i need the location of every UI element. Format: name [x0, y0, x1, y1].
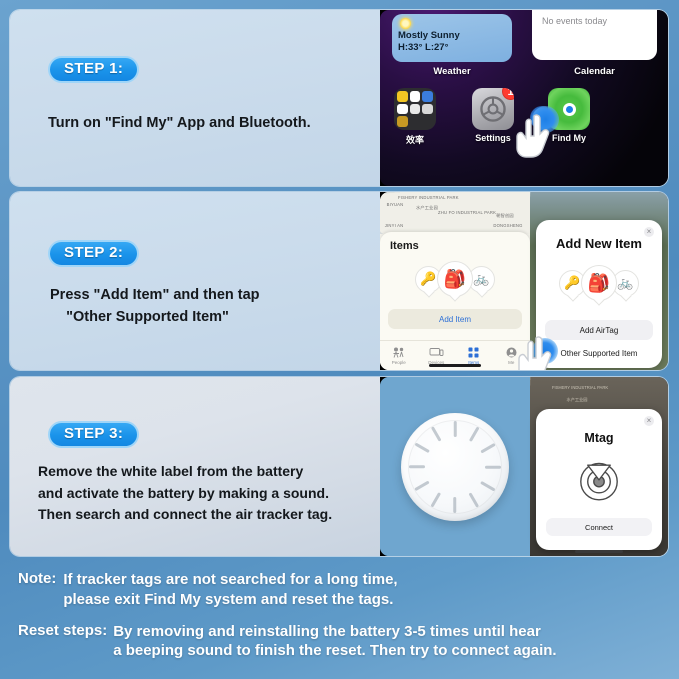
note-text: If tracker tags are not searched for a l… — [63, 570, 397, 610]
other-supported-item-button[interactable]: Other Supported Item — [545, 343, 653, 363]
add-airtag-button[interactable]: Add AirTag — [545, 320, 653, 340]
devices-icon — [429, 347, 444, 358]
sun-icon — [400, 18, 411, 29]
weather-temps: H:33° L:27° — [398, 42, 506, 54]
step-2-badge: STEP 2: — [48, 240, 139, 267]
step-3-panel: STEP 3: Remove the white label from the … — [10, 377, 668, 556]
radar-glyph — [573, 453, 625, 505]
map-label-0: FISHERY INDUSTRIAL PARK — [398, 195, 458, 200]
step-1-badge: STEP 1: — [48, 56, 139, 83]
tab-me[interactable]: Me — [493, 341, 531, 370]
tracker-and-pairing: FISHERY INDUSTRIAL PARK 水产工业园 × Mtag — [380, 377, 668, 556]
calendar-status: No events today — [542, 16, 607, 26]
tracker-product-photo — [380, 377, 530, 556]
map-label-6: JINYI AN — [381, 223, 407, 228]
note-section: Note: If tracker tags are not searched f… — [0, 562, 679, 679]
note-row-warning: Note: If tracker tags are not searched f… — [18, 570, 665, 610]
step-3-text-area: STEP 3: Remove the white label from the … — [10, 377, 380, 556]
ios-home-screen: Mostly Sunny H:33° L:27° Weather No even… — [380, 10, 668, 186]
tap-indicator — [532, 106, 559, 133]
item-bubbles: 🔑 🎒 🚲 — [380, 261, 530, 297]
tab-people-label: People — [392, 360, 406, 365]
note-label: Note: — [18, 570, 56, 587]
map-label-3: 朝智创园 — [488, 213, 522, 219]
mtag-title: Mtag — [536, 431, 662, 445]
step-1-panel: STEP 1: Turn on "Find My" App and Blueto… — [10, 10, 668, 186]
step-1-screenshot: Mostly Sunny H:33° L:27° Weather No even… — [380, 10, 668, 186]
step-1-text-area: STEP 1: Turn on "Find My" App and Blueto… — [10, 10, 380, 186]
weather-widget[interactable]: Mostly Sunny H:33° L:27° — [392, 14, 512, 62]
person-circle-icon — [506, 347, 517, 358]
home-indicator — [429, 364, 481, 367]
tap-indicator — [532, 338, 558, 364]
tab-people[interactable]: People — [380, 341, 418, 370]
add-item-button[interactable]: Add Item — [388, 309, 522, 329]
air-tracker-disc — [401, 413, 509, 521]
step-2-text-area: STEP 2: Press "Add Item" and then tap "O… — [10, 192, 380, 370]
mtag-dialog: × Mtag Connect — [536, 409, 662, 550]
step-1-instruction: Turn on "Find My" App and Bluetooth. — [48, 112, 311, 134]
app-folder-icon — [394, 88, 436, 130]
reset-steps-text: By removing and reinstalling the battery… — [113, 622, 556, 662]
weather-widget-label: Weather — [392, 66, 512, 77]
app-settings[interactable]: 1 Settings — [472, 88, 514, 143]
map-label-4: DONGSHENG — [488, 223, 528, 228]
app-folder-label: 效率 — [394, 133, 436, 146]
map-label-1: 水产工业园 — [554, 397, 600, 403]
step-2-panel: STEP 2: Press "Add Item" and then tap "O… — [10, 192, 668, 370]
step-3-screenshot: FISHERY INDUSTRIAL PARK 水产工业园 × Mtag — [380, 377, 668, 556]
home-indicator — [575, 550, 623, 553]
items-title: Items — [390, 240, 530, 252]
tab-me-label: Me — [508, 360, 514, 365]
items-grid-icon — [468, 347, 479, 358]
findmy-location-dot — [563, 103, 576, 116]
app-folder[interactable]: 效率 — [394, 88, 436, 146]
step-2-instruction: Press "Add Item" and then tap "Other Sup… — [50, 284, 260, 329]
modal-item-bubbles: 🔑 🎒 🚲 — [536, 265, 662, 301]
map-label-5: BIYUAN — [382, 202, 408, 207]
people-icon — [392, 347, 405, 358]
step-3-badge: STEP 3: — [48, 421, 139, 448]
map-label-2: ZHU FO INDUSTRIAL PARK — [438, 210, 494, 215]
close-icon[interactable]: × — [644, 227, 654, 237]
map-label-0: FISHERY INDUSTRIAL PARK — [552, 385, 606, 390]
findmy-items-screen: FISHERY INDUSTRIAL PARK 水产工业园 ZHU FO IND… — [380, 192, 530, 370]
map-background: FISHERY INDUSTRIAL PARK 水产工业园 ZHU FO IND… — [380, 192, 530, 234]
note-row-reset: Reset steps: By removing and reinstallin… — [18, 622, 665, 662]
step-2-screenshot: FISHERY INDUSTRIAL PARK 水产工业园 ZHU FO IND… — [380, 192, 668, 370]
step-3-instruction: Remove the white label from the battery … — [38, 461, 332, 526]
reset-steps-label: Reset steps: — [18, 622, 107, 639]
gear-icon: 1 — [472, 88, 514, 130]
add-new-item-title: Add New Item — [536, 236, 662, 251]
backpack-icon: 🎒 — [437, 261, 473, 297]
close-icon[interactable]: × — [644, 416, 654, 426]
calendar-widget-label: Calendar — [532, 66, 657, 77]
pairing-screen: FISHERY INDUSTRIAL PARK 水产工业园 × Mtag — [530, 377, 668, 556]
weather-condition: Mostly Sunny — [398, 30, 506, 42]
connect-button[interactable]: Connect — [546, 518, 652, 536]
backpack-icon: 🎒 — [581, 265, 617, 301]
items-sheet: Items 🔑 🎒 🚲 Add Item People — [380, 232, 530, 370]
calendar-widget[interactable]: No events today — [532, 10, 657, 60]
app-settings-label: Settings — [472, 133, 514, 143]
findmy-items-screens: FISHERY INDUSTRIAL PARK 水产工业园 ZHU FO IND… — [380, 192, 668, 370]
add-new-item-screen: × Add New Item 🔑 🎒 🚲 Add AirTag Other Su… — [530, 192, 668, 370]
app-findmy-label: Find My — [548, 133, 590, 143]
tracker-radar-icon — [536, 453, 662, 505]
